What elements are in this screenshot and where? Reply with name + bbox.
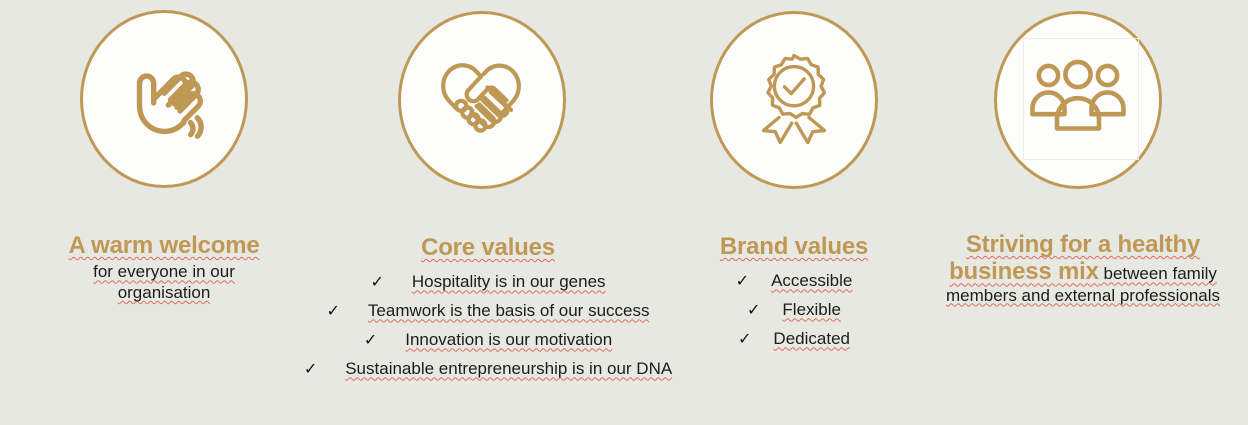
waving-hand-icon xyxy=(112,47,216,151)
list-item: ✓Sustainable entrepreneurship is in our … xyxy=(288,354,688,383)
column-1-subtext: for everyone in our organisation xyxy=(50,262,278,303)
people-group-icon xyxy=(1030,52,1126,148)
list-item: ✓Dedicated xyxy=(690,324,898,353)
check-icon: ✓ xyxy=(738,329,751,349)
brand-values-list: ✓Accessible ✓Flexible ✓Dedicated xyxy=(690,266,898,353)
core-values-list: ✓Hospitality is in our genes ✓Teamwork i… xyxy=(288,267,688,383)
list-item-label: Teamwork is the basis of our success xyxy=(368,301,650,321)
slide-canvas: A warm welcome for everyone in our organ… xyxy=(0,0,1248,425)
list-item-label: Dedicated xyxy=(773,329,850,349)
list-item-label: Flexible xyxy=(782,300,841,320)
column-3-heading: Brand values xyxy=(690,233,898,260)
column-brand-values: Brand values ✓Accessible ✓Flexible ✓Dedi… xyxy=(690,233,898,353)
column-4-text-block: Striving for a healthy business mix betw… xyxy=(938,231,1228,306)
handshake-heart-icon xyxy=(426,44,538,156)
check-icon: ✓ xyxy=(370,272,383,292)
check-icon: ✓ xyxy=(747,300,760,320)
check-icon: ✓ xyxy=(304,359,317,379)
column-business-mix: Striving for a healthy business mix betw… xyxy=(938,231,1228,306)
list-item-label: Hospitality is in our genes xyxy=(412,272,606,292)
column-2-heading: Core values xyxy=(288,234,688,261)
column-warm-welcome: A warm welcome for everyone in our organ… xyxy=(50,232,278,304)
check-icon: ✓ xyxy=(736,271,749,291)
check-icon: ✓ xyxy=(327,301,340,321)
list-item-label: Innovation is our motivation xyxy=(405,330,612,350)
handshake-heart-icon-badge xyxy=(398,11,566,189)
list-item: ✓Hospitality is in our genes xyxy=(288,267,688,296)
list-item-label: Sustainable entrepreneurship is in our D… xyxy=(345,359,672,379)
check-icon: ✓ xyxy=(364,330,377,350)
list-item: ✓Innovation is our motivation xyxy=(288,325,688,354)
list-item: ✓Flexible xyxy=(690,295,898,324)
waving-hand-icon-badge xyxy=(80,10,248,188)
list-item-label: Accessible xyxy=(771,271,852,291)
column-1-heading: A warm welcome xyxy=(50,232,278,259)
list-item: ✓Accessible xyxy=(690,266,898,295)
award-ribbon-check-icon-badge xyxy=(710,11,878,189)
people-group-icon-badge xyxy=(994,11,1162,189)
list-item: ✓Teamwork is the basis of our success xyxy=(288,296,688,325)
award-ribbon-check-icon xyxy=(739,45,849,155)
column-core-values: Core values ✓Hospitality is in our genes… xyxy=(288,234,688,383)
